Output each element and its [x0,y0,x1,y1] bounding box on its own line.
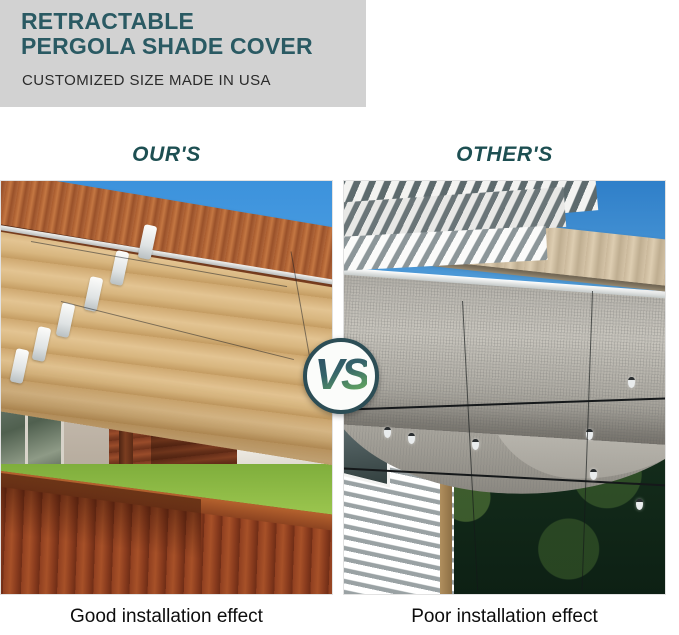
product-subtitle: CUSTOMIZED SIZE MADE IN USA [22,72,271,89]
left-column-heading: OUR'S [0,143,333,167]
versus-label: VS [315,353,368,400]
right-column-heading: OTHER'S [343,143,666,167]
product-comparison-image: RETRACTABLE PERGOLA SHADE COVER CUSTOMIZ… [0,0,679,635]
good-installation-scene [1,181,332,594]
versus-badge: VS [303,338,379,414]
string-light-bulb [472,439,479,450]
string-light-bulb [408,433,415,444]
right-caption: Poor installation effect [343,606,666,628]
right-product-photo [343,180,666,595]
string-light-bulb [628,377,635,388]
string-light-bulb [590,469,597,480]
header-banner: RETRACTABLE PERGOLA SHADE COVER CUSTOMIZ… [0,0,366,107]
poor-installation-scene [344,181,665,594]
string-light-bulb [636,499,643,510]
mesh-shade-cloth [344,273,665,447]
product-title: RETRACTABLE PERGOLA SHADE COVER [21,9,361,59]
string-light-bulb [384,427,391,438]
left-caption: Good installation effect [0,606,333,628]
left-product-photo [0,180,333,595]
